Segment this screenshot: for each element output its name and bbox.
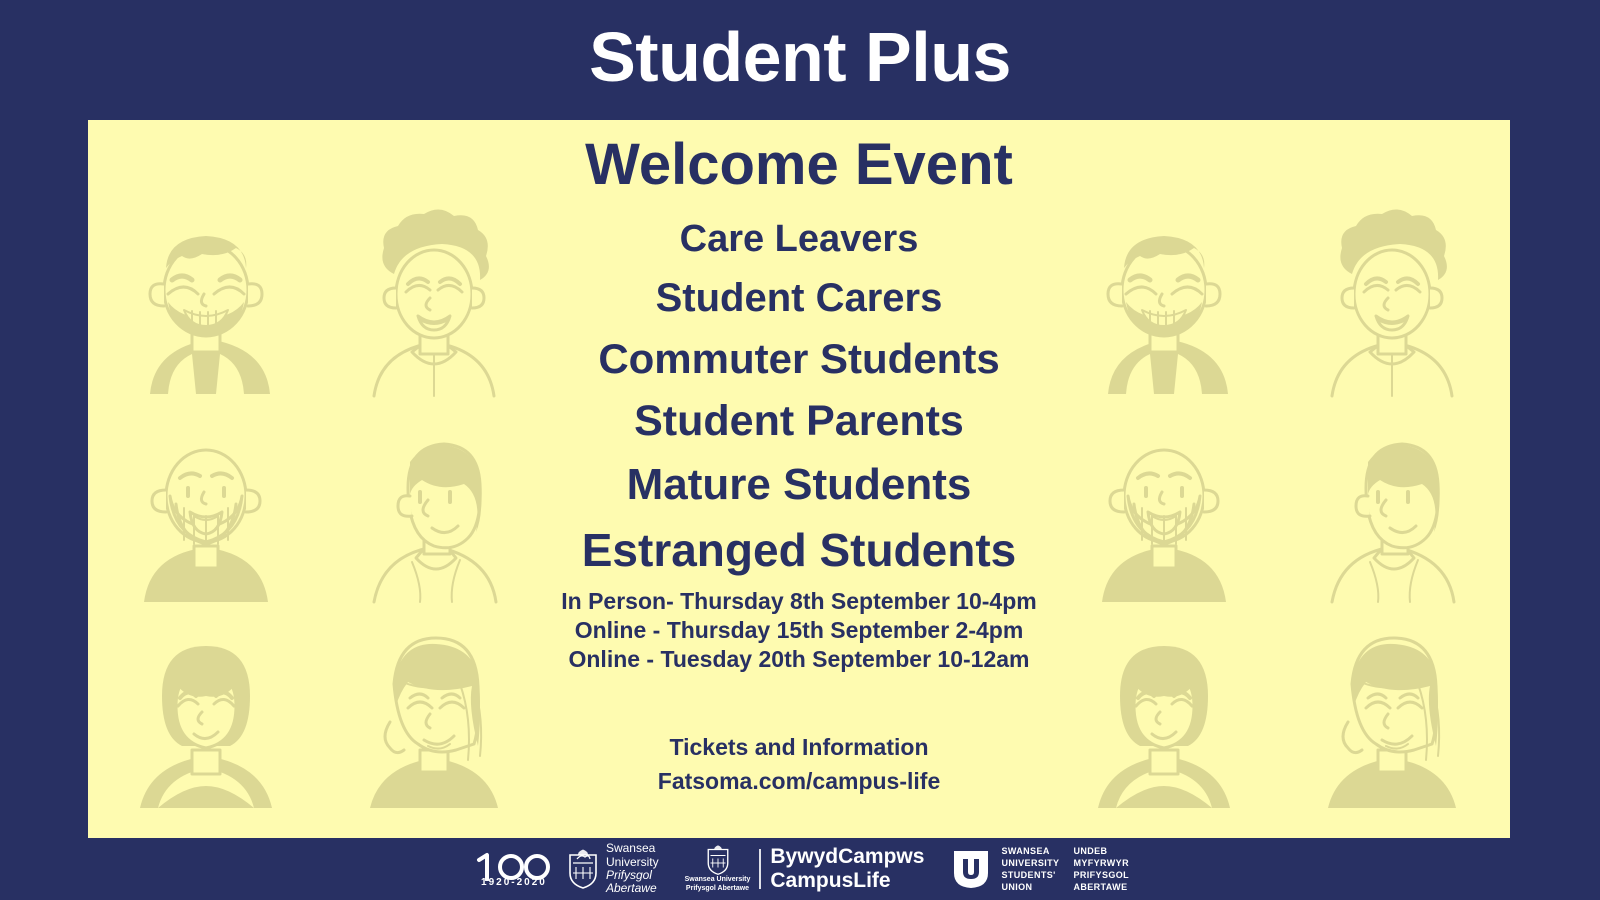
swansea-crest-icon [567, 849, 599, 889]
swansea-university-wordmark: Swansea University Prifysgol Abertawe [606, 842, 659, 896]
campus-life-lockup: Swansea University Prifysgol Abertawe By… [685, 845, 925, 893]
session-online-1: Online - Thursday 15th September 2-4pm [419, 616, 1179, 645]
campus-life-welsh: BywydCampws [770, 845, 924, 869]
su-cy-line-4: ABERTAWE [1073, 881, 1129, 893]
su-line-3: Prifysgol [606, 869, 659, 882]
bearded-smiling-man-avatar [106, 198, 306, 398]
list-item: Estranged Students [419, 527, 1179, 573]
short-hair-young-man-avatar [1292, 404, 1492, 604]
campus-life-crest-block: Swansea University Prifysgol Abertawe [685, 845, 751, 893]
students-union-english: SWANSEA UNIVERSITY STUDENTS' UNION [1001, 845, 1059, 894]
event-content: Care Leavers Student Carers Commuter Stu… [419, 220, 1179, 798]
event-subtitle: Welcome Event [88, 136, 1510, 194]
tickets-url[interactable]: Fatsoma.com/campus-life [419, 765, 1179, 798]
campus-life-crest-line-2: Prifysgol Abertawe [686, 885, 749, 893]
su-en-line-3: STUDENTS' [1001, 869, 1059, 881]
tickets-heading: Tickets and Information [419, 731, 1179, 764]
bald-bearded-older-man-avatar [106, 404, 306, 604]
students-union-wordmark: SWANSEA UNIVERSITY STUDENTS' UNION UNDEB… [1001, 845, 1129, 894]
students-union-welsh: UNDEB MYFYRWYR PRIFYSGOL ABERTAWE [1073, 845, 1129, 894]
campus-life-crest-line-1: Swansea University [685, 876, 751, 884]
su-line-1: Swansea [606, 842, 659, 855]
list-item: Mature Students [419, 463, 1179, 507]
students-union-lockup: SWANSEA UNIVERSITY STUDENTS' UNION UNDEB… [950, 845, 1129, 894]
swansea-centenary-lockup: 1920-2020 Swansea University Prifysgol A… [471, 842, 659, 896]
bob-haircut-woman-avatar [106, 610, 306, 810]
campus-life-english: CampusLife [770, 869, 924, 893]
campus-life-wordmark: BywydCampws CampusLife [770, 845, 924, 892]
list-item: Student Parents [419, 400, 1179, 443]
su-cy-line-2: MYFYRWYR [1073, 857, 1129, 869]
page-title: Student Plus [0, 22, 1600, 92]
list-item: Commuter Students [419, 338, 1179, 380]
session-times: In Person- Thursday 8th September 10-4pm… [419, 587, 1179, 673]
su-cy-line-1: UNDEB [1073, 845, 1129, 857]
su-cy-line-3: PRIFYSGOL [1073, 869, 1129, 881]
poster-panel: Welcome Event [88, 120, 1510, 838]
su-line-2: University [606, 856, 659, 869]
curly-hair-woman-avatar [1292, 198, 1492, 398]
long-fringe-woman-avatar [1292, 610, 1492, 810]
centenary-logo: 1920-2020 [471, 851, 557, 888]
footer-logo-bar: 1920-2020 Swansea University Prifysgol A… [0, 838, 1600, 900]
session-in-person: In Person- Thursday 8th September 10-4pm [419, 587, 1179, 616]
session-online-2: Online - Tuesday 20th September 10-12am [419, 645, 1179, 674]
list-item: Care Leavers [419, 220, 1179, 258]
su-en-line-2: UNIVERSITY [1001, 857, 1059, 869]
swansea-crest-icon [705, 845, 731, 875]
students-union-u-icon [950, 847, 992, 891]
logo-divider [759, 849, 761, 889]
su-en-line-1: SWANSEA [1001, 845, 1059, 857]
su-en-line-4: UNION [1001, 881, 1059, 893]
tickets-info: Tickets and Information Fatsoma.com/camp… [419, 731, 1179, 798]
su-line-4: Abertawe [606, 882, 659, 895]
target-group-list: Care Leavers Student Carers Commuter Stu… [419, 220, 1179, 573]
swansea-university-lockup: Swansea University Prifysgol Abertawe [567, 842, 659, 896]
centenary-years: 1920-2020 [481, 877, 547, 888]
list-item: Student Carers [419, 278, 1179, 318]
